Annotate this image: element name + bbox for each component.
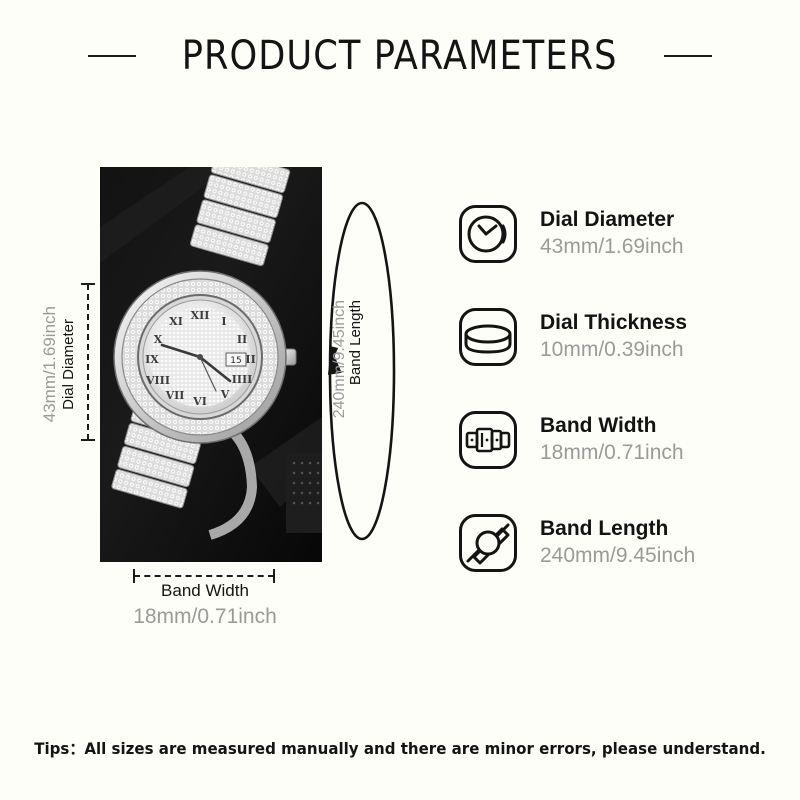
spec-text-dial-diameter: Dial Diameter 43mm/1.69inch [540, 207, 684, 261]
spec-text-band-length: Band Length 240mm/9.45inch [540, 516, 695, 570]
specification-list: Dial Diameter 43mm/1.69inch Dial Thickne… [458, 196, 778, 608]
svg-text:XII: XII [191, 309, 210, 322]
dial-diameter-dimension-line-icon [78, 283, 96, 441]
strap-buckle-icon [458, 410, 518, 470]
svg-text:IX: IX [145, 353, 159, 366]
band-length-annotation-value: 240mm/9.45inch [332, 300, 348, 418]
svg-text:VIII: VIII [145, 374, 170, 387]
svg-text:XI: XI [169, 315, 183, 328]
spec-value: 240mm/9.45inch [540, 542, 695, 569]
spec-row-band-length: Band Length 240mm/9.45inch [458, 505, 778, 580]
band-width-annotation-label: Band Width 18mm/0.71inch [60, 580, 350, 631]
band-length-annotation-label: 240mm/9.45inch Band Length [330, 300, 363, 490]
svg-text:I: I [221, 315, 226, 328]
spec-name: Band Length [540, 516, 695, 542]
svg-text:VII: VII [165, 389, 185, 402]
spec-value: 18mm/0.71inch [540, 439, 684, 466]
dimension-dashed-line-horizontal-icon [134, 575, 274, 577]
spec-name: Dial Thickness [540, 310, 687, 336]
svg-text:V: V [220, 388, 230, 401]
spec-text-dial-thickness: Dial Thickness 10mm/0.39inch [540, 310, 687, 364]
spec-text-band-width: Band Width 18mm/0.71inch [540, 413, 684, 467]
disc-thickness-icon [458, 307, 518, 367]
svg-text:II: II [237, 333, 247, 346]
tips-note: Tips：All sizes are measured manually and… [24, 735, 776, 759]
dial-diameter-annotation-label: 43mm/1.69inch Dial Diameter [30, 280, 76, 448]
page-title: PRODUCT PARAMETERS [182, 33, 618, 79]
spec-row-dial-diameter: Dial Diameter 43mm/1.69inch [458, 196, 778, 271]
product-photo: XII I II III IIII V VI VII VIII IX X XI … [100, 167, 322, 562]
band-length-annotation-name: Band Length [348, 300, 363, 385]
band-width-annotation-name: Band Width [60, 580, 350, 603]
dial-diameter-annotation-name: Dial Diameter [61, 319, 76, 410]
spec-value: 10mm/0.39inch [540, 336, 687, 363]
svg-text:VI: VI [192, 395, 207, 408]
watch-dial-icon [458, 204, 518, 264]
band-width-annotation-value: 18mm/0.71inch [60, 603, 350, 631]
dial-diameter-annotation-value: 43mm/1.69inch [41, 306, 58, 422]
spec-value: 43mm/1.69inch [540, 233, 684, 260]
dimension-dashed-line-icon [87, 284, 89, 440]
spec-row-dial-thickness: Dial Thickness 10mm/0.39inch [458, 299, 778, 374]
header-rule-right-icon [664, 55, 712, 57]
header-rule-left-icon [88, 55, 136, 57]
spec-name: Band Width [540, 413, 684, 439]
watch-band-icon [458, 513, 518, 573]
svg-text:IIII: IIII [232, 373, 253, 386]
dimension-cap-bottom-icon [81, 439, 95, 441]
spec-name: Dial Diameter [540, 207, 684, 233]
page-header: PRODUCT PARAMETERS [0, 28, 800, 84]
spec-row-band-width: Band Width 18mm/0.71inch [458, 402, 778, 477]
product-parameters-page: PRODUCT PARAMETERS [0, 0, 800, 800]
svg-text:15: 15 [230, 356, 241, 366]
